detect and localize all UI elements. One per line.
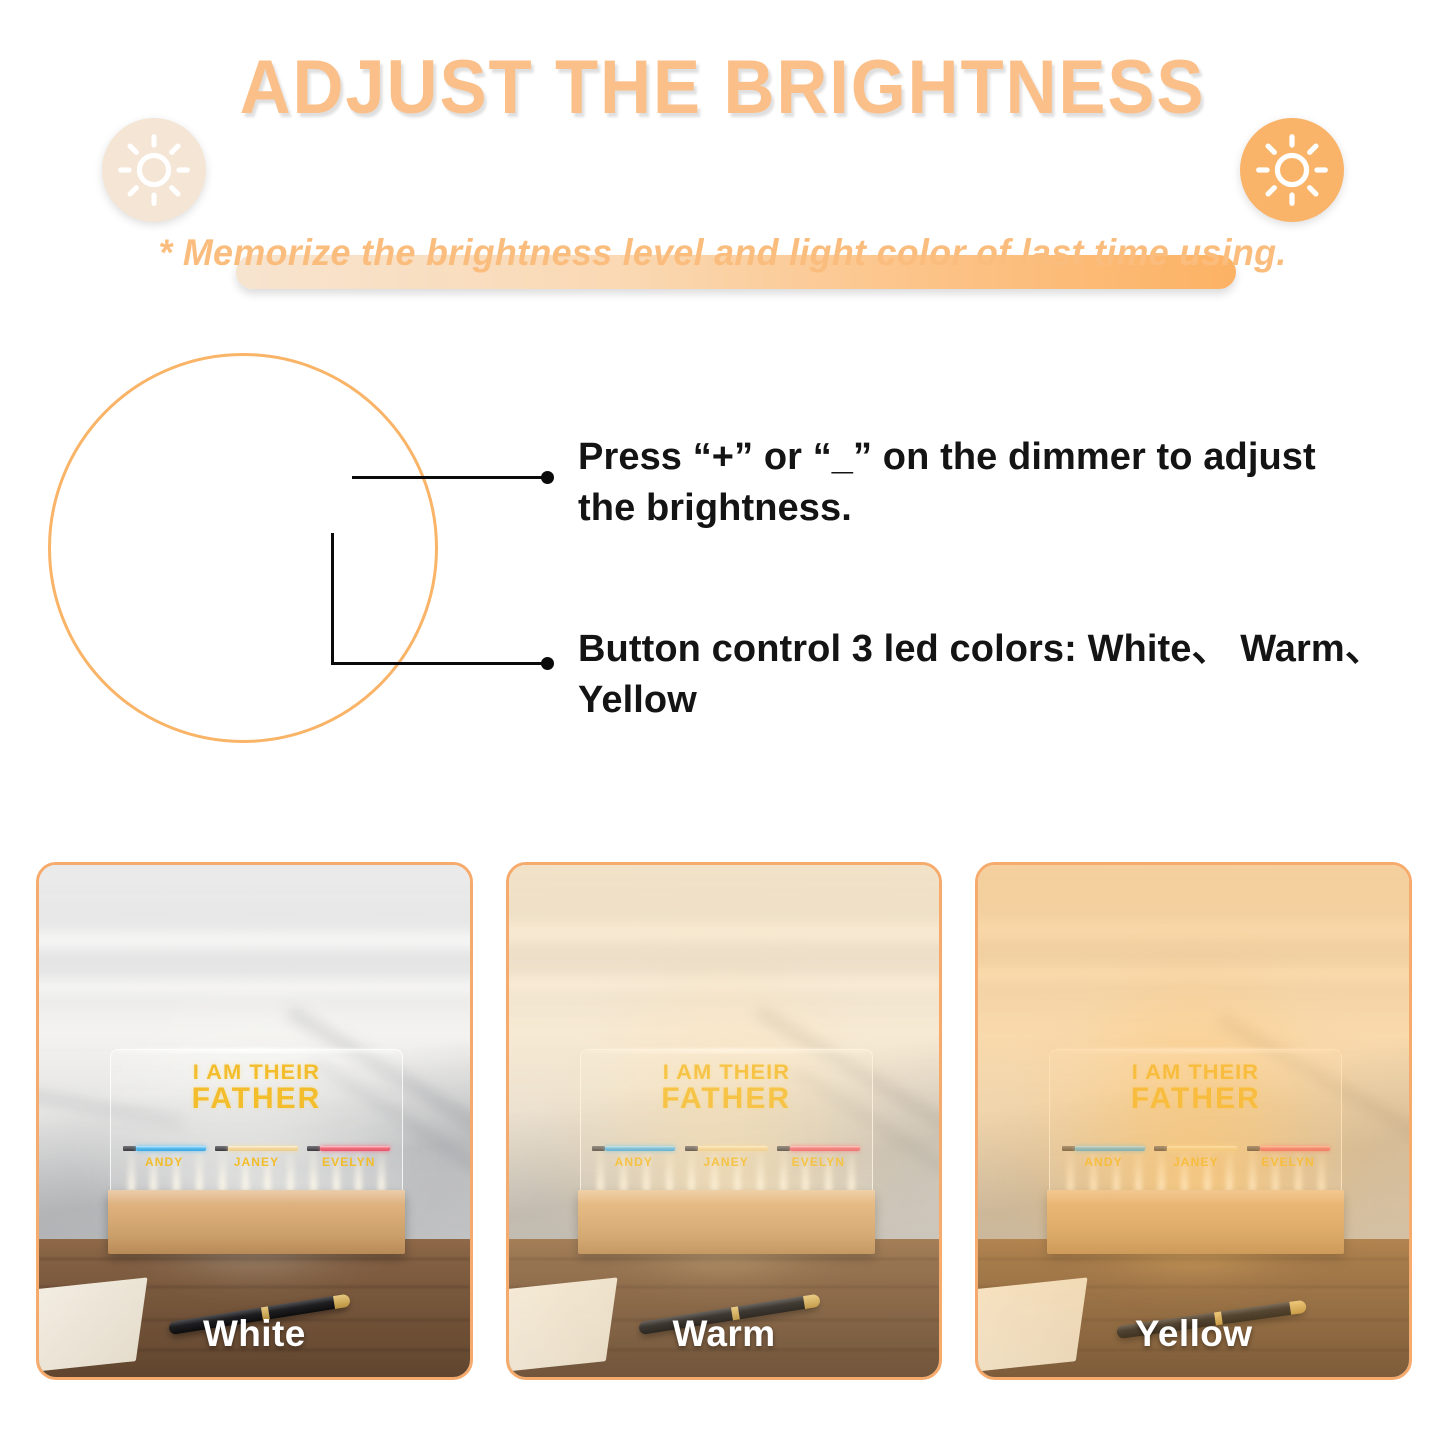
plaque-line-1: I AM THEIR [575,1063,877,1084]
saber-blade [605,1146,675,1151]
lightsaber-group: ANDY JANEY EVELYN [592,1145,860,1169]
plaque-line-2: FATHER [1050,1084,1341,1113]
wall-streak [978,914,1409,944]
saber-name: ANDY [1062,1155,1145,1169]
lightsaber-item: ANDY [123,1145,206,1169]
saber-blade [1075,1146,1145,1151]
wall-streak [39,925,470,955]
lightsaber-item: ANDY [1062,1145,1145,1169]
plaque-edge-glow [117,1048,396,1053]
card-label-yellow: Yellow [978,1313,1409,1355]
lightsaber-item: JANEY [685,1145,768,1169]
card-white[interactable]: I AM THEIR FATHER ANDY JANEY [36,862,473,1380]
plaque-edge-glow [1056,1048,1335,1053]
plaque-line-1: I AM THEIR [105,1063,407,1084]
callout-colors: Button control 3 led colors: White、 Warm… [578,624,1398,725]
wooden-base [578,1190,875,1254]
saber-name: EVELYN [1247,1155,1330,1169]
lightsaber-group: ANDY JANEY EVELYN [123,1145,391,1169]
card-label-warm: Warm [509,1313,940,1355]
memorize-note: * Memorize the brightness level and ligh… [22,232,1424,274]
saber-name: EVELYN [777,1155,860,1169]
saber-name: JANEY [1154,1155,1237,1169]
lightsaber-item: EVELYN [1247,1145,1330,1169]
sun-high-icon [1240,118,1344,222]
saber-name: JANEY [685,1155,768,1169]
saber-hilt [215,1146,228,1151]
saber-name: EVELYN [307,1155,390,1169]
leader-line-brightness [352,476,548,479]
product-photo-yellow: I AM THEIR FATHER ANDY JANEY [978,865,1409,1377]
plaque-line-1: I AM THEIR [1045,1063,1347,1084]
saber-hilt [123,1146,136,1151]
saber-blade [790,1146,860,1151]
brightness-control-row [0,107,1445,233]
leader-dot-brightness [541,471,554,484]
card-label-white: White [39,1313,470,1355]
sun-low-glyph [102,118,206,222]
wooden-base [1047,1190,1344,1254]
saber-hilt [777,1146,790,1151]
saber-name: JANEY [215,1155,298,1169]
acrylic-plaque: I AM THEIR FATHER ANDY JANEY [580,1049,873,1192]
plaque-headline: I AM THEIR FATHER [111,1063,402,1113]
wooden-base [108,1190,405,1254]
acrylic-plaque: I AM THEIR FATHER ANDY JANEY [1049,1049,1342,1192]
lightsaber-item: EVELYN [777,1145,860,1169]
color-mode-cards: I AM THEIR FATHER ANDY JANEY [36,862,1412,1380]
saber-hilt [1247,1146,1260,1151]
saber-name: ANDY [123,1155,206,1169]
saber-hilt [592,1146,605,1151]
saber-hilt [307,1146,320,1151]
saber-blade [1167,1146,1237,1151]
plaque-edge-glow [587,1048,866,1053]
sun-high-glyph [1240,118,1344,222]
dimmer-circle-frame [48,353,438,743]
wall-streak [509,917,940,947]
card-yellow[interactable]: I AM THEIR FATHER ANDY JANEY [975,862,1412,1380]
saber-hilt [1062,1146,1075,1151]
saber-blade [136,1146,206,1151]
plaque-line-2: FATHER [581,1084,872,1113]
product-photo-white: I AM THEIR FATHER ANDY JANEY [39,865,470,1377]
lightsaber-group: ANDY JANEY EVELYN [1062,1145,1330,1169]
leader-line-colors-horizontal [331,662,548,665]
lightsaber-item: JANEY [1154,1145,1237,1169]
saber-blade [228,1146,298,1151]
leader-dot-colors [541,657,554,670]
lightsaber-item: JANEY [215,1145,298,1169]
acrylic-plaque: I AM THEIR FATHER ANDY JANEY [110,1049,403,1192]
sun-low-icon [102,118,206,222]
saber-blade [320,1146,390,1151]
plaque-headline: I AM THEIR FATHER [581,1063,872,1113]
lightsaber-item: ANDY [592,1145,675,1169]
plaque-headline: I AM THEIR FATHER [1050,1063,1341,1113]
saber-hilt [1154,1146,1167,1151]
infographic-page: ADJUST THE BRIGHTNESS [0,0,1445,1445]
leader-line-colors-vertical [331,533,334,665]
saber-blade [1260,1146,1330,1151]
lightsaber-item: EVELYN [307,1145,390,1169]
saber-name: ANDY [592,1155,675,1169]
plaque-line-2: FATHER [111,1084,402,1113]
product-photo-warm: I AM THEIR FATHER ANDY JANEY [509,865,940,1377]
callout-brightness: Press “+” or “_” on the dimmer to adjust… [578,432,1378,533]
card-warm[interactable]: I AM THEIR FATHER ANDY JANEY [506,862,943,1380]
saber-hilt [685,1146,698,1151]
saber-blade [698,1146,768,1151]
